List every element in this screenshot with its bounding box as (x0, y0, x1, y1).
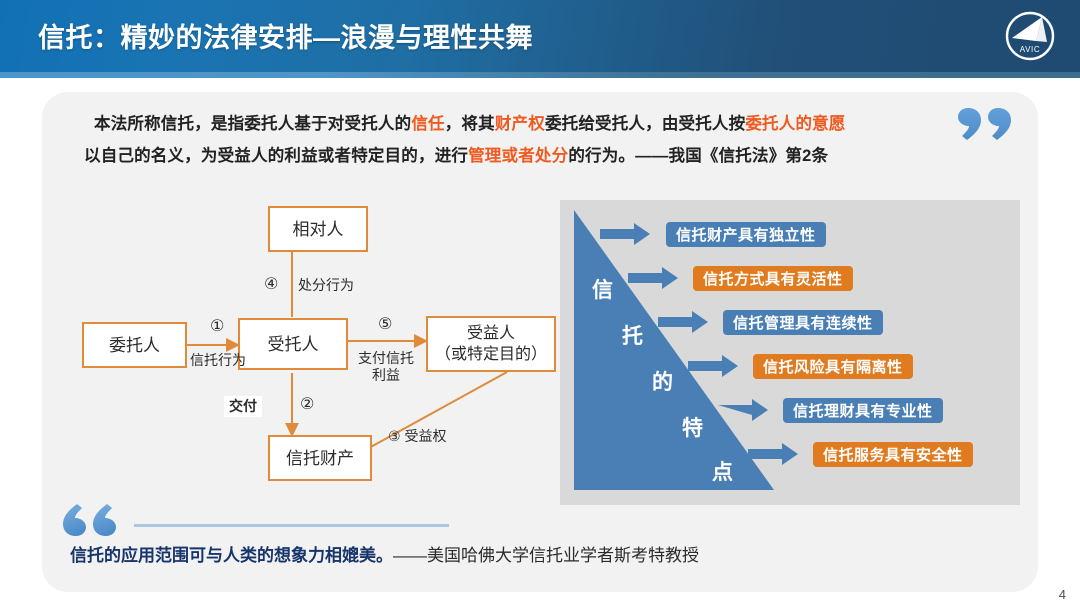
feature-bar-4: 信托风险具有隔离性 (753, 354, 913, 379)
flow-label-delivery: 交付 (224, 396, 262, 417)
quote-text-1: 本法所称信托，是指委托人基于对受托人的 (94, 115, 411, 133)
quote-text-5: 的行为。——我国《信托法》第2条 (568, 147, 828, 165)
content-card: 本法所称信托，是指委托人基于对受托人的信任，将其财产权委托给受托人，由受托人按委… (42, 92, 1038, 592)
flow-label-disposal-act: 处分行为 (298, 277, 354, 294)
header-accent-stripe (0, 72, 1080, 78)
quote-text-2: ，将其 (445, 115, 495, 133)
quote-highlight-trust: 信任 (411, 115, 444, 133)
quote-text-3: 委托给受托人，由受托人按 (545, 115, 745, 133)
bottom-quote: 信托的应用范围可与人类的想象力相媲美。——美国哈佛大学信托业学者斯考特教授 (70, 544, 699, 568)
triangle-char-3: 的 (652, 366, 673, 396)
quote-divider-rule (134, 524, 449, 527)
trust-features-panel: 信 托 的 特 点 信托财产具有独立性 信托方式具有灵活性 信托管理具有连续性 … (560, 200, 1020, 505)
feature-bar-3: 信托管理具有连续性 (723, 310, 883, 335)
triangle-char-5: 点 (712, 456, 733, 486)
quote-text-4: 以自己的名义，为受益人的利益或者特定目的，进行 (84, 147, 468, 165)
quote-highlight-manage: 管理或者处分 (468, 147, 568, 165)
beneficiary-line-2: （或特定目的） (435, 344, 547, 365)
triangle-char-1: 信 (592, 274, 613, 304)
quote-highlight-intent: 委托人的意愿 (745, 115, 845, 133)
flow-label-num-3-benefit-right: ③ 受益权 (388, 428, 446, 445)
flow-node-counterparty: 相对人 (268, 206, 368, 252)
flow-label-num-1: ① (210, 318, 224, 335)
feature-bar-6: 信托服务具有安全性 (813, 442, 973, 467)
pay-benefit-line-2: 利益 (372, 367, 400, 383)
flow-node-trust-property: 信托财产 (268, 435, 372, 481)
flow-node-beneficiary: 受益人 （或特定目的） (426, 316, 556, 372)
page-number: 4 (1059, 587, 1066, 602)
svg-text:AVIC: AVIC (1020, 45, 1040, 54)
page-title: 信托：精妙的法律安排—浪漫与理性共舞 (38, 16, 533, 55)
law-quote-line-2: 以自己的名义，为受益人的利益或者特定目的，进行管理或者处分的行为。——我国《信托… (84, 140, 984, 172)
feature-bar-1: 信托财产具有独立性 (666, 222, 826, 247)
feature-bar-2: 信托方式具有灵活性 (693, 266, 853, 291)
beneficiary-line-1: 受益人 (467, 323, 515, 344)
bottom-quote-attribution: ——美国哈佛大学信托业学者斯考特教授 (393, 546, 699, 565)
flow-label-num-5: ⑤ (378, 316, 392, 333)
avic-logo-icon: AVIC (1002, 8, 1058, 64)
flow-label-num-2: ② (300, 396, 314, 413)
pay-benefit-line-1: 支付信托 (358, 350, 414, 366)
opening-quote-icon (60, 500, 118, 538)
closing-quote-icon (956, 106, 1014, 142)
flow-label-num-4: ④ (264, 276, 278, 293)
trust-flow-diagram: 相对人 委托人 受托人 受益人 （或特定目的） 信托财产 ① 信托行为 ④ 处分… (42, 200, 587, 510)
law-quote-line-1: 本法所称信托，是指委托人基于对受托人的信任，将其财产权委托给受托人，由受托人按委… (94, 108, 984, 140)
flow-label-pay-benefit: 支付信托 利益 (348, 350, 424, 384)
flow-node-trustee: 受托人 (238, 318, 348, 370)
quote-highlight-property: 财产权 (495, 115, 545, 133)
bottom-quote-text: 信托的应用范围可与人类的想象力相媲美。 (70, 546, 393, 565)
flow-label-trust-act: 信托行为 (190, 352, 246, 369)
triangle-char-2: 托 (622, 320, 643, 350)
law-quote-paragraph: 本法所称信托，是指委托人基于对受托人的信任，将其财产权委托给受托人，由受托人按委… (94, 108, 984, 172)
feature-bar-5: 信托理财具有专业性 (783, 398, 943, 423)
flow-node-settlor: 委托人 (82, 322, 187, 368)
triangle-char-4: 特 (682, 412, 703, 442)
page-header: 信托：精妙的法律安排—浪漫与理性共舞 AVIC (0, 0, 1080, 72)
